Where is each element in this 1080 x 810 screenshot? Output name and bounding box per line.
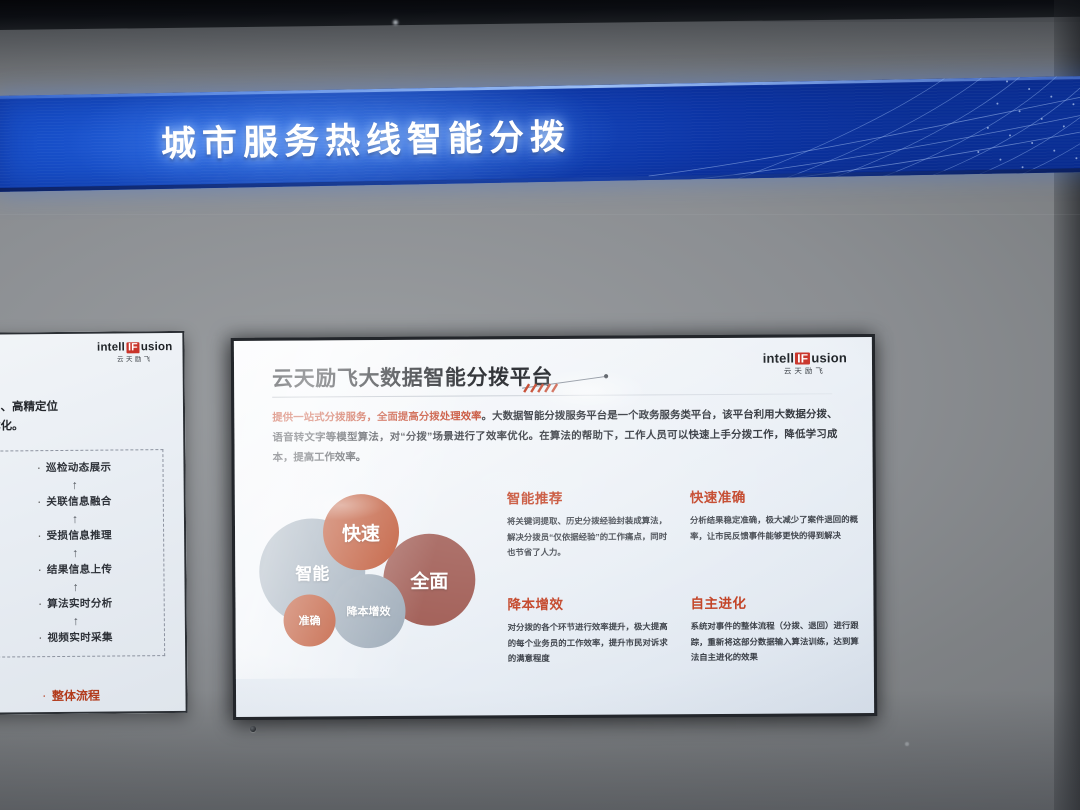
- bullet-icon: ·: [38, 497, 41, 507]
- flow-step: ·巡检动态展示: [0, 458, 159, 476]
- feature-body: 将关键词提取、历史分拨经验封装成算法，解决分拨员“仅依据经验”的工作痛点，同时也…: [507, 513, 667, 561]
- slide-logo-cn: 云天励飞: [763, 367, 847, 375]
- left-poster-body: AI视觉算法、高精定位 据流程一体化。: [0, 397, 177, 437]
- flow-step-label: 受损信息推理: [47, 528, 113, 544]
- flow-step-label: 视频实时采集: [47, 630, 113, 646]
- bullet-icon: ·: [38, 463, 41, 473]
- logo-if-mark: IF: [126, 342, 140, 353]
- flow-arrow-up-icon: ↑: [0, 577, 160, 595]
- exhibition-wall-scene: 城市服务热线智能分拨 intellIFusion 云天励飞 AI视觉算法、高精定…: [0, 0, 1080, 810]
- left-poster-flow-title: · 整体流程: [0, 686, 156, 704]
- feature-block-fast-accurate: 快速准确 分析结果稳定准确，极大减少了案件退回的概率，让市民反馈事件能够更快的得…: [690, 485, 858, 544]
- venn-diagram: 智能 全面 降本增效 快速 准确: [259, 489, 490, 670]
- flow-arrow-up-icon: ↑: [0, 509, 159, 527]
- flow-step: ·受损信息推理: [0, 526, 159, 544]
- slide-surface: intellIFusion 云天励飞 云天励飞大数据智能分拨平台 提供一站式分拨…: [234, 337, 874, 717]
- slide-logo: intellIFusion 云天励飞: [763, 351, 847, 375]
- flow-arrow-up-icon: ↑: [0, 475, 159, 493]
- feature-body: 对分拨的各个环节进行效率提升，极大提高的每个业务员的工作效率，提升市民对诉求的满…: [508, 619, 668, 667]
- bullet-icon: ·: [38, 565, 41, 575]
- bullet-icon: ·: [43, 691, 46, 701]
- flow-step: ·算法实时分析: [0, 594, 160, 612]
- venn-circle-jiangbenzengxiao: 降本增效: [331, 574, 405, 648]
- slide-title: 云天励飞大数据智能分拨平台: [272, 361, 553, 393]
- venn-circle-zhunque: 准确: [283, 594, 335, 646]
- led-banner: 城市服务热线智能分拨: [0, 76, 1080, 192]
- flow-step-label: 巡检动态展示: [46, 460, 112, 476]
- lead-highlight: 提供一站式分拨服务，全面提高分拨处理效率: [272, 411, 481, 423]
- slide-logo-wordmark: intellIFusion: [763, 351, 847, 365]
- wall-seam-line: [0, 214, 1080, 215]
- feature-heading: 自主进化: [690, 591, 858, 612]
- left-poster-logo: intellIFusion 云天励飞: [97, 342, 173, 364]
- feature-block-cost-reduction: 降本增效 对分拨的各个环节进行效率提升，极大提高的每个业务员的工作效率，提升市民…: [507, 592, 667, 667]
- flow-step-label: 算法实时分析: [47, 596, 113, 612]
- feature-heading: 快速准确: [690, 485, 858, 506]
- logo-text-pre: intell: [97, 341, 125, 353]
- feature-block-self-evolution: 自主进化 系统对事件的整体流程（分拨、退回）进行跟踪，重新将这部分数据输入算法训…: [690, 591, 858, 666]
- flow-step-label: 结果信息上传: [47, 562, 113, 578]
- bullet-icon: ·: [39, 633, 42, 643]
- flow-step: ·结果信息上传: [0, 560, 159, 578]
- logo-text-pre: intell: [763, 351, 795, 366]
- feature-body: 分析结果稳定准确，极大减少了案件退回的概率，让市民反馈事件能够更快的得到解决: [690, 512, 858, 544]
- feature-heading: 降本增效: [507, 592, 667, 613]
- left-poster: intellIFusion 云天励飞 AI视觉算法、高精定位 据流程一体化。 ·…: [0, 331, 188, 715]
- venn-circle-kuaisu: 快速: [323, 494, 399, 570]
- wall-speck: [905, 742, 909, 746]
- left-poster-logo-wordmark: intellIFusion: [97, 342, 173, 354]
- wall-screw: [250, 726, 256, 732]
- left-poster-body-line-2: 据流程一体化。: [0, 416, 177, 437]
- bullet-icon: ·: [39, 599, 42, 609]
- slide-lead-paragraph: 提供一站式分拨服务，全面提高分拨处理效率。大数据智能分拨服务平台是一个政务服务类…: [272, 405, 837, 468]
- title-decoration-icon: [520, 370, 628, 397]
- flow-arrow-up-icon: ↑: [0, 543, 159, 561]
- main-lightbox-panel: intellIFusion 云天励飞 云天励飞大数据智能分拨平台 提供一站式分拨…: [231, 334, 877, 720]
- flow-step: ·关联信息融合: [0, 492, 159, 510]
- logo-if-mark: IF: [795, 352, 810, 364]
- logo-text-post: usion: [141, 341, 173, 353]
- left-poster-flow-box: ·巡检动态展示 ↑ ·关联信息融合 ↑ ·受损信息推理 ↑ ·结果信息上传 ↑ …: [0, 449, 165, 658]
- left-poster-logo-cn: 云天励飞: [97, 357, 173, 364]
- feature-heading: 智能推荐: [507, 486, 667, 507]
- left-poster-body-line-1: AI视觉算法、高精定位: [0, 397, 177, 418]
- ceiling-light-glint: [393, 20, 398, 25]
- feature-body: 系统对事件的整体流程（分拨、退回）进行跟踪，重新将这部分数据输入算法训练，达到算…: [691, 618, 859, 666]
- logo-text-post: usion: [811, 350, 847, 365]
- flow-step-label: 关联信息融合: [46, 494, 112, 510]
- bullet-icon: ·: [38, 531, 41, 541]
- banner-title-text: 城市服务热线智能分拨: [0, 82, 737, 192]
- feature-block-smart-recommend: 智能推荐 将关键词提取、历史分拨经验封装成算法，解决分拨员“仅依据经验”的工作痛…: [507, 486, 667, 561]
- flow-step: ·视频实时采集: [0, 628, 160, 646]
- flow-title-label: 整体流程: [52, 687, 100, 704]
- flow-arrow-up-icon: ↑: [0, 611, 160, 629]
